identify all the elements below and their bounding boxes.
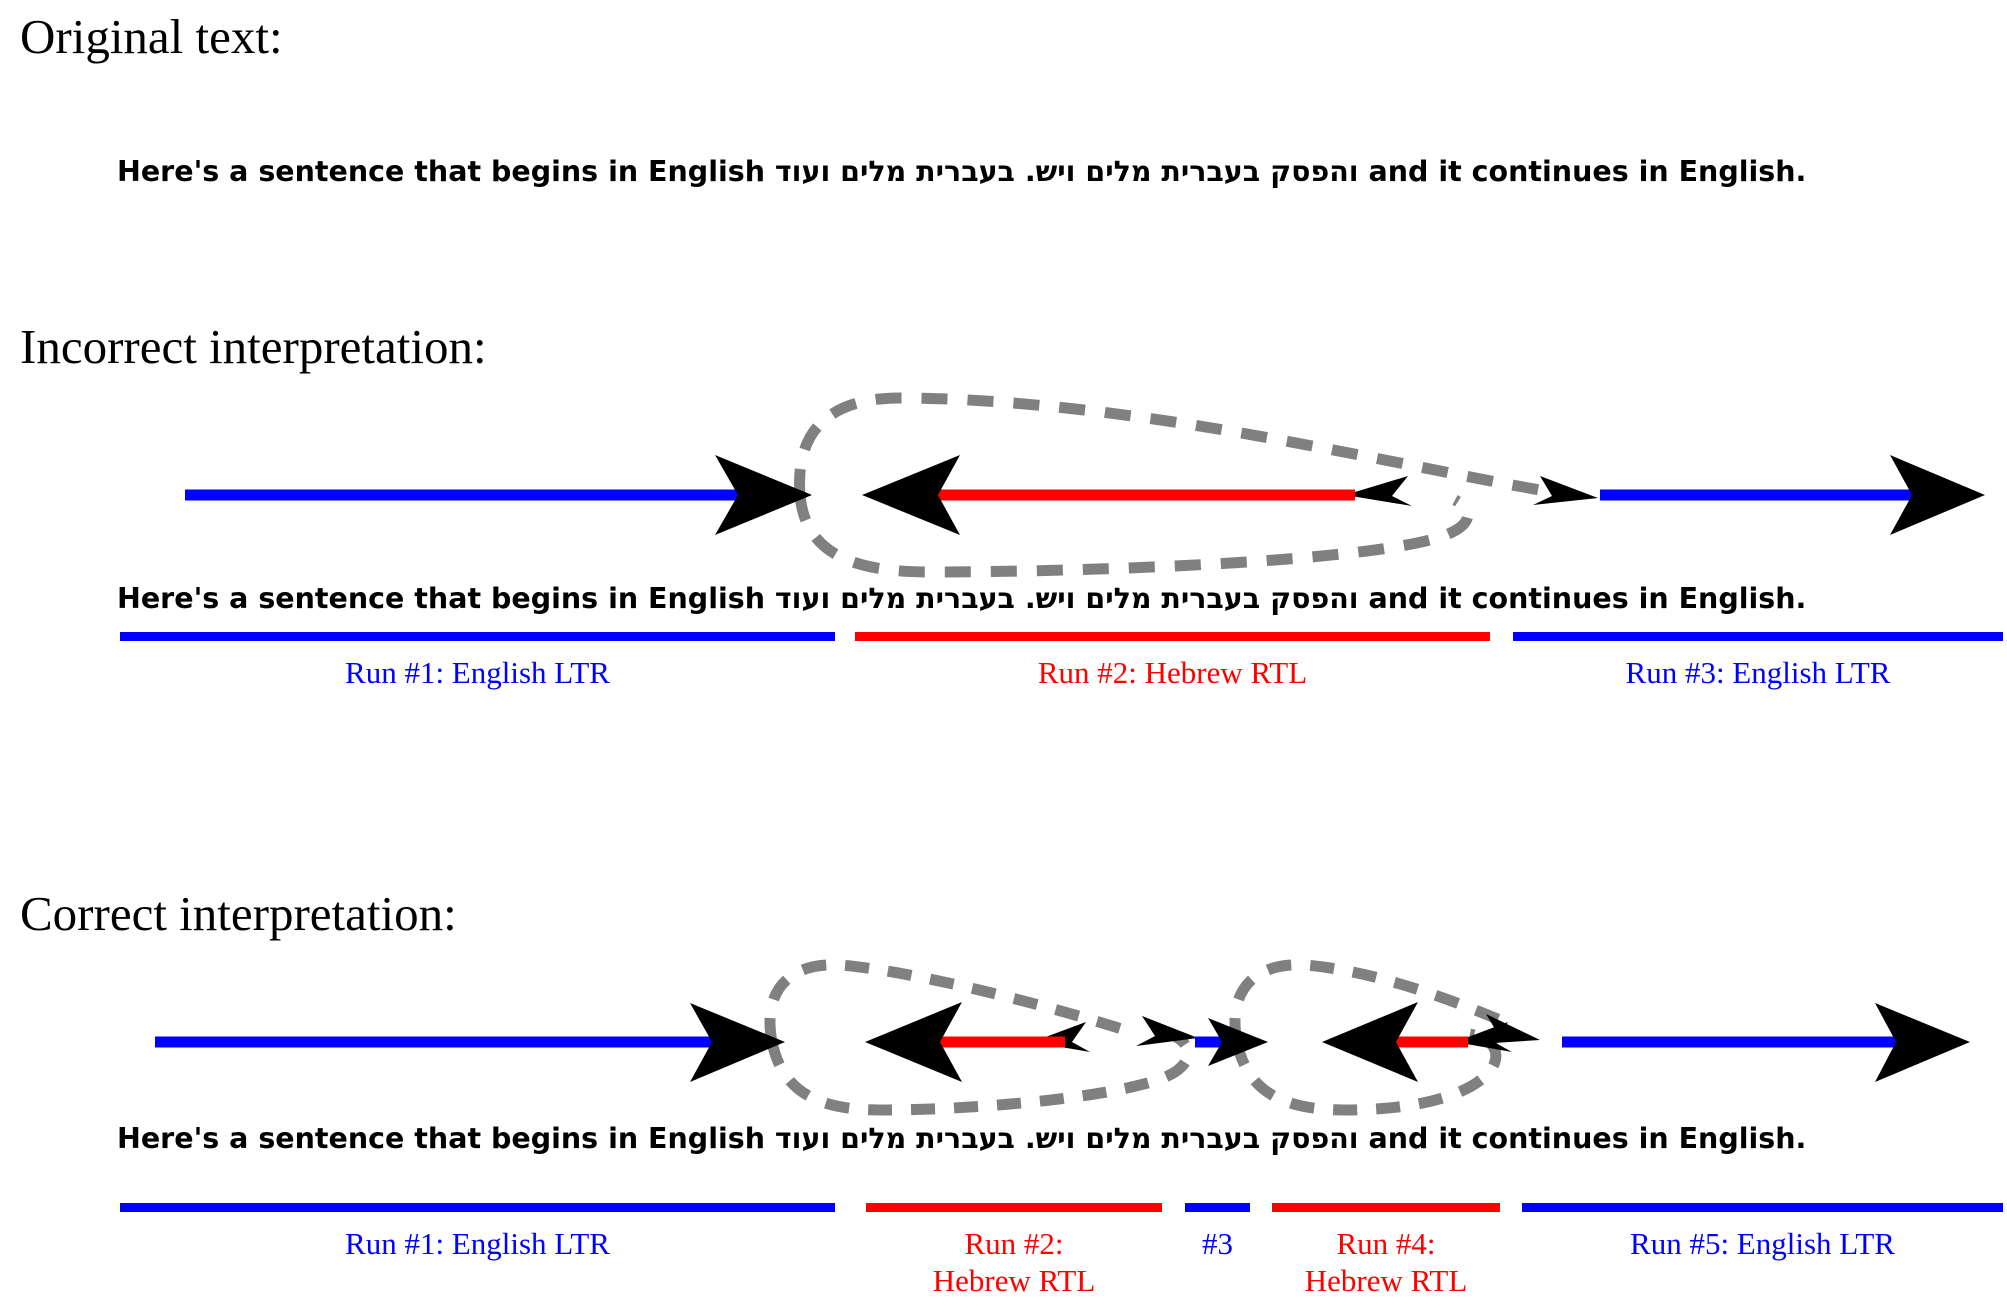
run-bar-correct-3 <box>1185 1203 1250 1212</box>
run3-ltr-arrow-correct <box>1195 1018 1268 1066</box>
run-label-incorrect-2: Run #2: Hebrew RTL <box>855 655 1490 692</box>
run-label-correct-2: Run #2: Hebrew RTL <box>866 1226 1162 1299</box>
run-bar-correct-1 <box>120 1203 835 1212</box>
run-bar-correct-4 <box>1272 1203 1500 1212</box>
run3-ltr-arrow-incorrect <box>1600 455 1985 535</box>
run-bar-incorrect-2 <box>855 632 1490 641</box>
run-label-correct-3: #3 <box>1185 1226 1250 1263</box>
reorder-loop-2-correct <box>1235 965 1500 1110</box>
reorder-loop-incorrect <box>800 398 1540 572</box>
reorder-loop-1-correct <box>770 965 1188 1110</box>
run-label-incorrect-1: Run #1: English LTR <box>120 655 835 692</box>
heading-incorrect-interpretation: Incorrect interpretation: <box>20 318 487 375</box>
run-label-incorrect-3: Run #3: English LTR <box>1513 655 2003 692</box>
run4-rtl-arrow-correct <box>1322 1002 1468 1082</box>
loop1-arrowhead-right-correct <box>1136 1016 1198 1046</box>
heading-original-text: Original text: <box>20 8 283 65</box>
run-label-correct-5: Run #5: English LTR <box>1522 1226 2003 1263</box>
loop-arrowhead-right-incorrect <box>1533 476 1598 505</box>
run-bar-incorrect-1 <box>120 632 835 641</box>
loop2-arrowhead-right-correct <box>1478 1014 1540 1044</box>
run5-ltr-arrow-correct <box>1562 1003 1970 1082</box>
run-bar-correct-2 <box>866 1203 1162 1212</box>
loop-arrowhead-left-incorrect <box>1345 476 1412 506</box>
heading-correct-interpretation: Correct interpretation: <box>20 885 457 942</box>
run-bar-incorrect-3 <box>1513 632 2003 641</box>
run2-rtl-arrow-correct <box>865 1002 1065 1082</box>
loop2-arrowhead-left-correct <box>1455 1022 1512 1052</box>
run1-ltr-arrow-correct <box>155 1003 785 1082</box>
run2-rtl-arrow-incorrect <box>862 455 1355 535</box>
original-sentence: Here's a sentence that begins in English… <box>117 155 1806 188</box>
run1-ltr-arrow-incorrect <box>185 455 812 535</box>
run-bar-correct-5 <box>1522 1203 2003 1212</box>
run-label-correct-4: Run #4: Hebrew RTL <box>1272 1226 1500 1299</box>
loop1-arrowhead-left-correct <box>1032 1022 1090 1052</box>
incorrect-sentence: Here's a sentence that begins in English… <box>117 582 1806 615</box>
run-label-correct-1: Run #1: English LTR <box>120 1226 835 1263</box>
correct-sentence: Here's a sentence that begins in English… <box>117 1122 1806 1155</box>
